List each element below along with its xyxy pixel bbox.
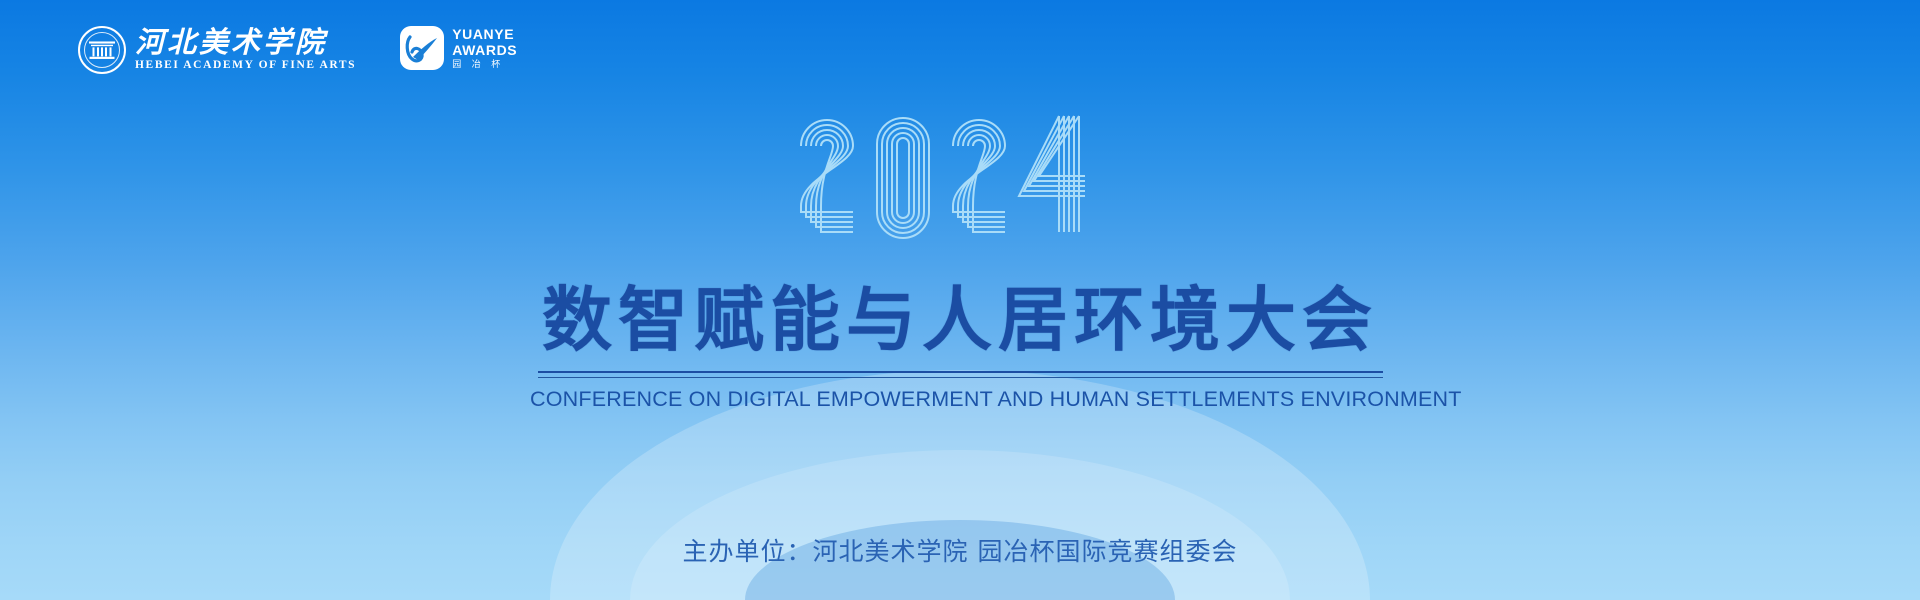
yuanye-line-3: 园 冶 杯 <box>452 60 517 69</box>
hebei-academy-wordmark: 河北美术学院 HEBEI ACADEMY OF FINE ARTS <box>135 29 356 72</box>
academy-gate-glyph <box>89 41 115 59</box>
hebei-name-en: HEBEI ACADEMY OF FINE ARTS <box>135 60 356 72</box>
hebei-academy-logo[interactable]: 河北美术学院 HEBEI ACADEMY OF FINE ARTS <box>78 26 356 74</box>
conference-title-cn: 数智赋能与人居环境大会 <box>0 285 1920 355</box>
mid-dome-arc <box>630 450 1290 600</box>
yuanye-wordmark: YUANYE AWARDS 园 冶 杯 <box>452 27 517 69</box>
organizer-line: 主办单位：河北美术学院 园冶杯国际竞赛组委会 <box>0 532 1920 568</box>
year-graphic <box>0 112 1920 240</box>
yuanye-mark-glyph <box>400 26 444 70</box>
yuanye-leaf-mark-icon <box>400 26 444 70</box>
academy-seal-icon <box>78 26 126 74</box>
title-block: 数智赋能与人居环境大会 CONFERENCE ON DIGITAL EMPOWE… <box>0 285 1920 412</box>
yuanye-line-2: AWARDS <box>452 43 517 57</box>
hebei-name-cn: 河北美术学院 <box>135 29 356 58</box>
yuanye-line-1: YUANYE <box>452 27 517 41</box>
title-divider <box>538 371 1383 378</box>
divider-line-top <box>538 371 1383 373</box>
conference-title-en: CONFERENCE ON DIGITAL EMPOWERMENT AND HU… <box>530 387 1390 412</box>
conference-banner: 河北美术学院 HEBEI ACADEMY OF FINE ARTS YUANYE… <box>0 0 1920 600</box>
yuanye-awards-logo[interactable]: YUANYE AWARDS 园 冶 杯 <box>400 26 517 70</box>
logo-row: 河北美术学院 HEBEI ACADEMY OF FINE ARTS YUANYE… <box>78 26 517 74</box>
year-2024-glyph <box>795 112 1125 240</box>
divider-line-bottom <box>538 377 1383 378</box>
